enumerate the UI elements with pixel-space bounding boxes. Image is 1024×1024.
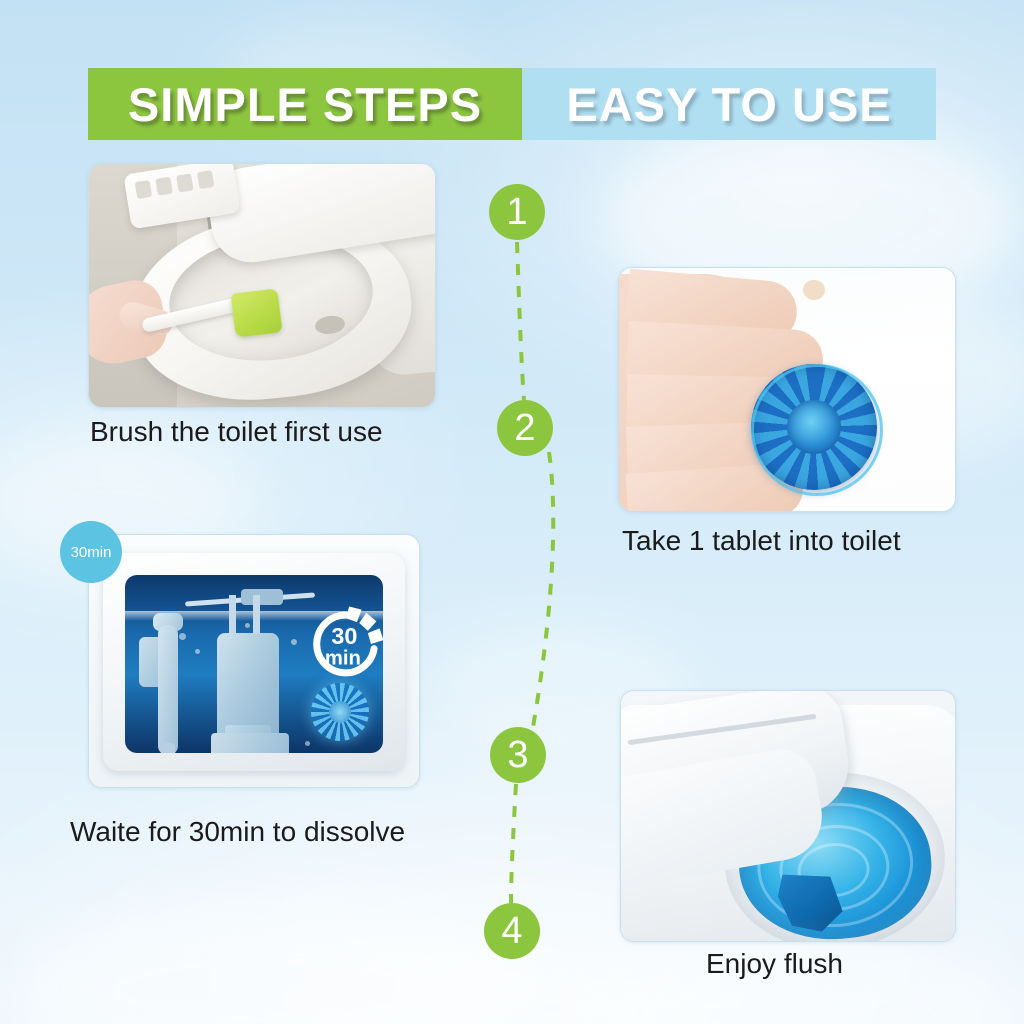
step-number-1: 1 <box>489 184 545 240</box>
hand-holding-tablet-photo <box>619 268 955 511</box>
banner-easy-to-use: EASY TO USE <box>522 68 936 140</box>
dissolving-tablet-icon <box>311 683 369 741</box>
timer-bottom-label: min <box>325 647 361 669</box>
step-number-3: 3 <box>490 727 546 783</box>
banner-easy-to-use-label: EASY TO USE <box>566 81 891 128</box>
badge-30min-label: 30min <box>71 545 112 560</box>
step-4-caption: Enjoy flush <box>706 950 843 978</box>
badge-30min: 30min <box>60 521 122 583</box>
banner-simple-steps: SIMPLE STEPS <box>88 68 522 140</box>
timer-30min-icon: 30 min <box>307 605 383 683</box>
step-number-4: 4 <box>484 903 540 959</box>
step-1-photo-card <box>88 163 436 408</box>
banner-simple-steps-label: SIMPLE STEPS <box>128 81 482 128</box>
step-number-1-label: 1 <box>506 193 527 231</box>
cloud-decoration <box>20 900 520 1024</box>
header-banner-row: SIMPLE STEPS EASY TO USE <box>88 68 936 140</box>
toilet-brushing-photo <box>89 164 435 407</box>
step-number-2-label: 2 <box>514 409 535 447</box>
toilet-cistern-tank-photo: 30 min <box>89 535 419 787</box>
step-4-photo-card <box>620 690 956 942</box>
flushing-blue-water-photo <box>621 691 955 941</box>
step-number-3-label: 3 <box>507 736 528 774</box>
timer-top-label: 30 <box>331 623 357 649</box>
step-1-caption: Brush the toilet first use <box>90 418 383 446</box>
step-2-photo-card <box>618 267 956 512</box>
step-3-photo-card: 30 min <box>88 534 420 788</box>
step-number-2: 2 <box>497 400 553 456</box>
step-number-4-label: 4 <box>501 912 522 950</box>
step-2-caption: Take 1 tablet into toilet <box>622 527 901 555</box>
infographic-page: SIMPLE STEPS EASY TO USE 1 2 3 4 <box>0 0 1024 1024</box>
step-3-caption: Waite for 30min to dissolve <box>70 818 405 846</box>
